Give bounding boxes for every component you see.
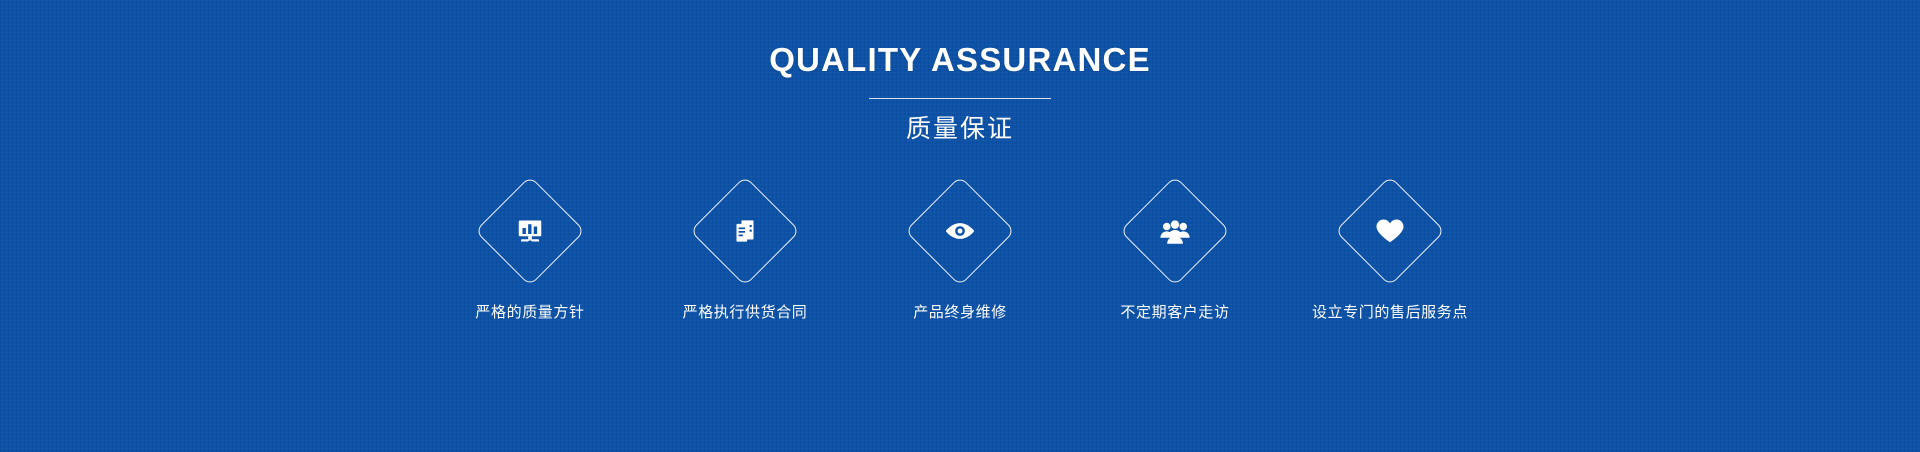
title-divider [869,98,1051,99]
users-group-icon [1151,207,1199,255]
feature-label: 设立专门的售后服务点 [1312,303,1468,323]
title-divider-wrap [0,98,1920,99]
feature-list: 严格的质量方针 严格执行供货合同 [0,192,1920,323]
feature-label: 严格的质量方针 [475,303,584,323]
feature-item[interactable]: 产品终身维修 [853,192,1068,323]
feature-item[interactable]: 不定期客户走访 [1068,192,1283,323]
heading-block: QUALITY ASSURANCE 质量保证 [0,40,1920,145]
feature-label: 产品终身维修 [913,303,1007,323]
diamond-frame [690,176,800,286]
heart-icon [1366,207,1414,255]
feature-item[interactable]: 严格执行供货合同 [638,192,853,323]
diamond-frame [1335,176,1445,286]
presentation-chart-icon [506,207,554,255]
diamond-frame [905,176,1015,286]
document-contract-icon [721,207,769,255]
feature-item[interactable]: 严格的质量方针 [423,192,638,323]
page-title-english: QUALITY ASSURANCE [0,40,1920,80]
feature-label: 不定期客户走访 [1120,303,1229,323]
eye-icon [936,207,984,255]
feature-item[interactable]: 设立专门的售后服务点 [1283,192,1498,323]
diamond-frame [1120,176,1230,286]
diamond-frame [475,176,585,286]
page-title-chinese: 质量保证 [0,113,1920,145]
quality-assurance-banner: QUALITY ASSURANCE 质量保证 [0,0,1920,452]
feature-label: 严格执行供货合同 [683,303,808,323]
